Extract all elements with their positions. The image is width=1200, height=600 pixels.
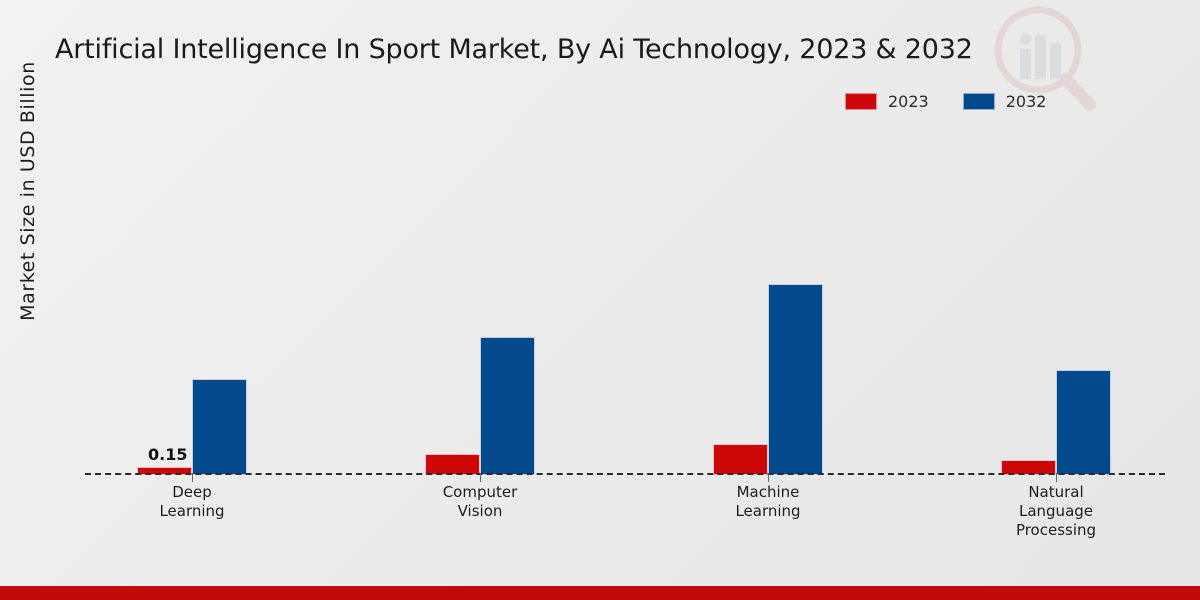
data-label-deep-learning-2023: 0.15: [148, 445, 187, 464]
bar-2023-machine-learning[interactable]: [713, 444, 768, 475]
bar-2023-computer-vision[interactable]: [425, 454, 480, 475]
legend-item-2032[interactable]: 2032: [963, 92, 1047, 111]
y-axis-title: Market Size in USD Billion: [17, 11, 39, 371]
legend-swatch-2032: [963, 93, 995, 110]
bar-2032-natural-language-processing[interactable]: [1056, 370, 1111, 475]
x-axis-label-line: Language: [961, 502, 1151, 521]
footer-accent-bar: [0, 586, 1200, 600]
x-axis-label-line: Machine: [673, 483, 863, 502]
x-axis-label-machine-learning: Machine Learning: [673, 483, 863, 521]
bar-group-natural-language-processing: [960, 120, 1150, 475]
bar-group-machine-learning: [672, 120, 862, 475]
x-axis-label-line: Vision: [385, 502, 575, 521]
x-axis-tick-deep-learning: [192, 473, 193, 482]
legend-label-2032: 2032: [1006, 92, 1047, 111]
x-axis-tick-computer-vision: [480, 473, 481, 482]
x-axis-label-line: Natural: [961, 483, 1151, 502]
x-axis-label-line: Learning: [673, 502, 863, 521]
bar-2032-deep-learning[interactable]: [192, 379, 247, 475]
x-axis-label-line: Deep: [97, 483, 287, 502]
x-axis-label-line: Computer: [385, 483, 575, 502]
x-axis-label-computer-vision: Computer Vision: [385, 483, 575, 521]
x-axis-label-line: Learning: [97, 502, 287, 521]
chart-title: Artificial Intelligence In Sport Market,…: [55, 34, 1115, 65]
x-axis-label-deep-learning: Deep Learning: [97, 483, 287, 521]
chart-legend: 2023 2032: [845, 92, 1046, 111]
zero-baseline: [85, 473, 1165, 475]
chart-page: Artificial Intelligence In Sport Market,…: [0, 0, 1200, 600]
bar-2032-machine-learning[interactable]: [768, 284, 823, 475]
bar-2032-computer-vision[interactable]: [480, 337, 535, 475]
x-axis-label-natural-language-processing: Natural Language Processing: [961, 483, 1151, 540]
legend-label-2023: 2023: [888, 92, 929, 111]
legend-swatch-2023: [845, 93, 877, 110]
x-axis-label-line: Processing: [961, 521, 1151, 540]
bar-group-computer-vision: [384, 120, 574, 475]
x-axis-tick-machine-learning: [768, 473, 769, 482]
legend-item-2023[interactable]: 2023: [845, 92, 929, 111]
bar-group-deep-learning: [96, 120, 286, 475]
x-axis-tick-natural-language-processing: [1056, 473, 1057, 482]
plot-area: [85, 120, 1165, 475]
